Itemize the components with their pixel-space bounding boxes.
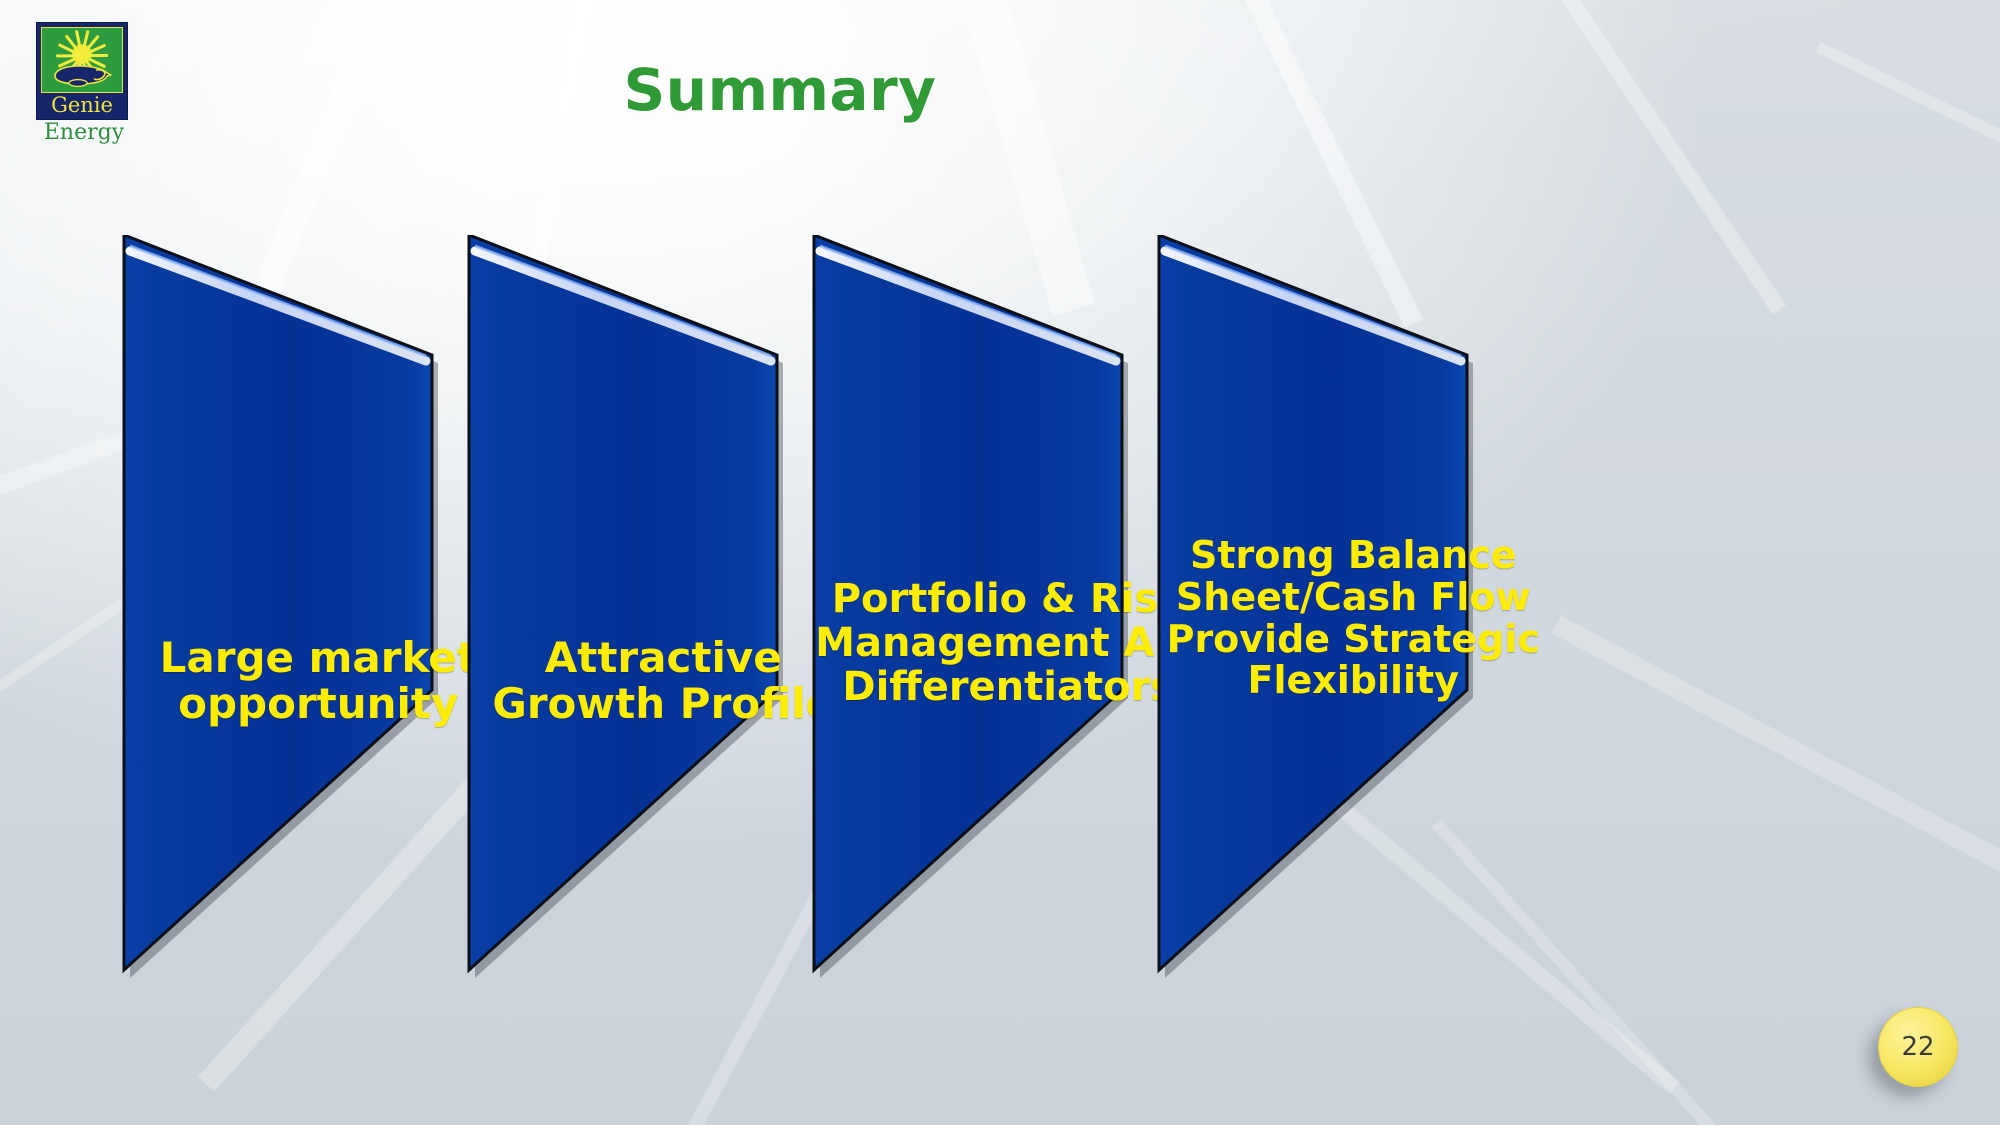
page-number-badge: 22 <box>1878 1007 1958 1087</box>
panel-label: Strong Balance Sheet/Cash Flow Provide S… <box>1158 535 1549 702</box>
panel-strong-balance-sheet[interactable]: Strong Balance Sheet/Cash Flow Provide S… <box>1145 235 1570 990</box>
page-number-text: 22 <box>1901 1032 1934 1062</box>
panel-group: Large market opportunity <box>0 0 2000 1125</box>
presentation-slide: Genie Energy Summary <box>0 0 2000 1125</box>
